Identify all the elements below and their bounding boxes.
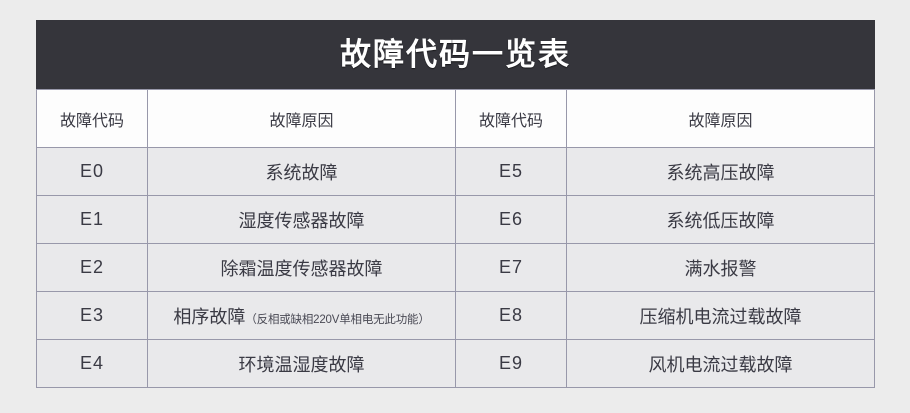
header-fault-code-left: 故障代码 bbox=[37, 90, 148, 148]
fault-code: E1 bbox=[37, 196, 148, 244]
table-row: E1 湿度传感器故障 E6 系统低压故障 bbox=[37, 196, 875, 244]
fault-reason-text: 系统故障 bbox=[266, 163, 338, 183]
header-fault-reason-right: 故障原因 bbox=[567, 90, 875, 148]
fault-reason: 系统故障 bbox=[148, 148, 456, 196]
fault-reason: 除霜温度传感器故障 bbox=[148, 244, 456, 292]
fault-reason: 风机电流过载故障 bbox=[567, 340, 875, 388]
fault-reason: 相序故障（反相或缺相220V单相电无此功能） bbox=[148, 292, 456, 340]
fault-reason: 环境温湿度故障 bbox=[148, 340, 456, 388]
fault-code: E6 bbox=[456, 196, 567, 244]
fault-code: E4 bbox=[37, 340, 148, 388]
fault-reason-text: 系统高压故障 bbox=[667, 163, 775, 183]
fault-reason-text: 环境温湿度故障 bbox=[239, 355, 365, 375]
fault-code: E8 bbox=[456, 292, 567, 340]
fault-reason-text: 除霜温度传感器故障 bbox=[221, 259, 383, 279]
fault-reason-text: 系统低压故障 bbox=[667, 211, 775, 231]
page-root: 故障代码一览表 故障代码 故障原因 故障代码 故障原因 E0 系统故障 E5 系… bbox=[0, 0, 910, 413]
fault-code: E7 bbox=[456, 244, 567, 292]
fault-code: E3 bbox=[37, 292, 148, 340]
fault-code-table-card: 故障代码一览表 故障代码 故障原因 故障代码 故障原因 E0 系统故障 E5 系… bbox=[36, 20, 875, 386]
fault-reason-text: 风机电流过载故障 bbox=[649, 355, 793, 375]
fault-code-table: 故障代码 故障原因 故障代码 故障原因 E0 系统故障 E5 系统高压故障 E1… bbox=[36, 89, 875, 388]
fault-code: E9 bbox=[456, 340, 567, 388]
table-row: E2 除霜温度传感器故障 E7 满水报警 bbox=[37, 244, 875, 292]
fault-reason: 系统高压故障 bbox=[567, 148, 875, 196]
table-body: E0 系统故障 E5 系统高压故障 E1 湿度传感器故障 E6 系统低压故障 E… bbox=[37, 148, 875, 388]
fault-reason: 系统低压故障 bbox=[567, 196, 875, 244]
fault-reason-text: 满水报警 bbox=[685, 259, 757, 279]
fault-code: E2 bbox=[37, 244, 148, 292]
fault-code: E5 bbox=[456, 148, 567, 196]
table-row: E0 系统故障 E5 系统高压故障 bbox=[37, 148, 875, 196]
table-row: E4 环境温湿度故障 E9 风机电流过载故障 bbox=[37, 340, 875, 388]
fault-reason: 压缩机电流过载故障 bbox=[567, 292, 875, 340]
fault-reason-text: 湿度传感器故障 bbox=[239, 211, 365, 231]
table-header: 故障代码 故障原因 故障代码 故障原因 bbox=[37, 90, 875, 148]
fault-reason: 满水报警 bbox=[567, 244, 875, 292]
page-title: 故障代码一览表 bbox=[340, 39, 571, 70]
fault-code: E0 bbox=[37, 148, 148, 196]
table-row: E3 相序故障（反相或缺相220V单相电无此功能） E8 压缩机电流过载故障 bbox=[37, 292, 875, 340]
fault-reason-note: （反相或缺相220V单相电无此功能） bbox=[245, 314, 429, 326]
fault-reason-text: 压缩机电流过载故障 bbox=[640, 307, 802, 327]
table-header-row: 故障代码 故障原因 故障代码 故障原因 bbox=[37, 90, 875, 148]
header-fault-reason-left: 故障原因 bbox=[148, 90, 456, 148]
fault-reason: 湿度传感器故障 bbox=[148, 196, 456, 244]
table-title-bar: 故障代码一览表 bbox=[36, 20, 875, 89]
header-fault-code-right: 故障代码 bbox=[456, 90, 567, 148]
fault-reason-text: 相序故障 bbox=[173, 307, 245, 327]
